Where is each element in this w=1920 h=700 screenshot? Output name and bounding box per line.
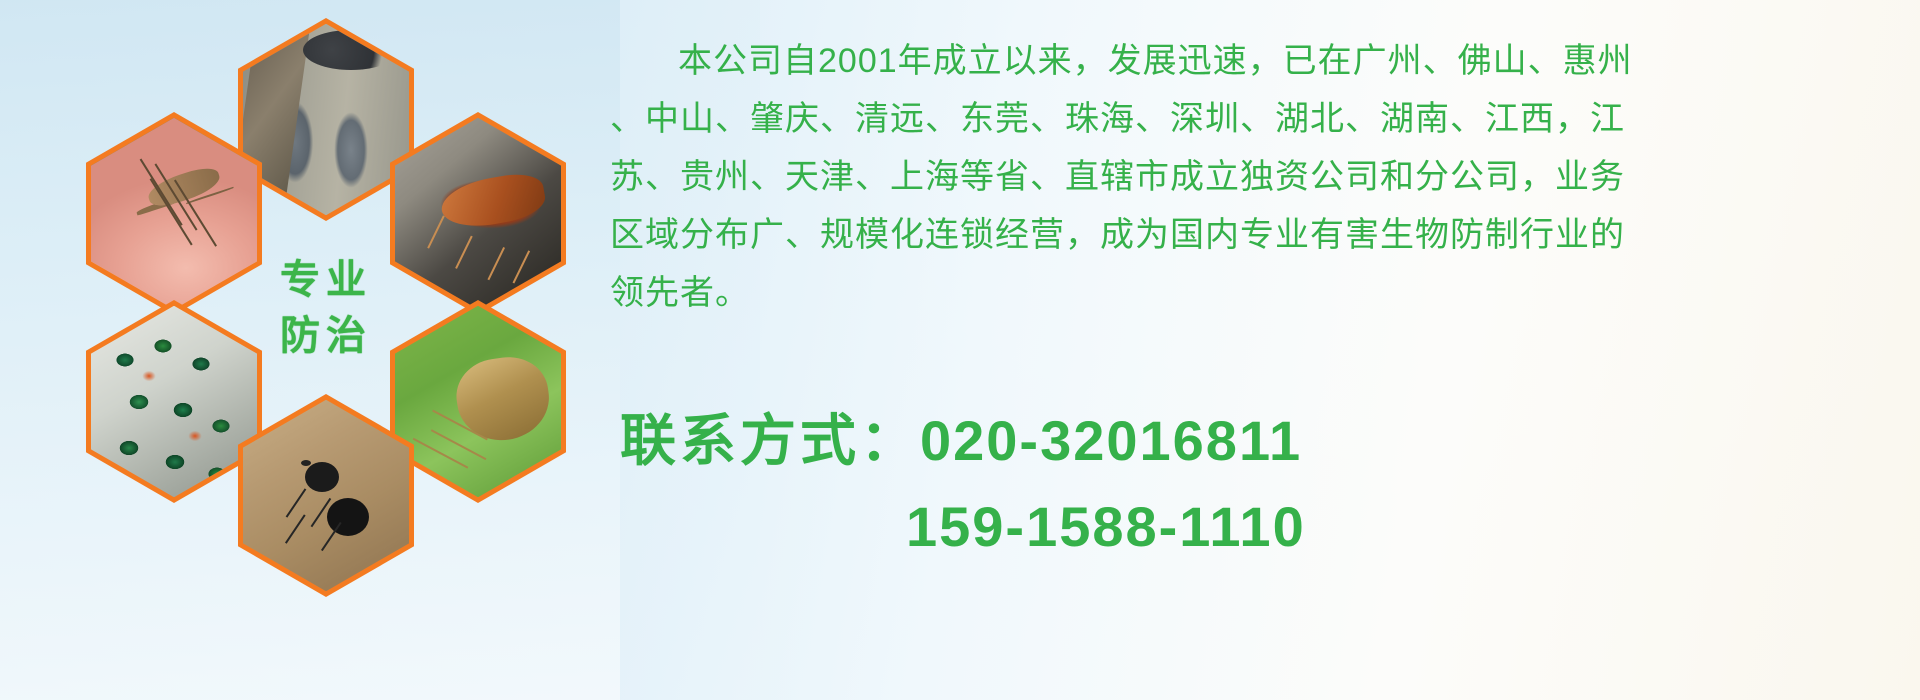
contact-block: 联系方式：020-32016811 159-1588-1110 [620,398,1900,570]
hex-tile-stinkbug[interactable] [390,300,566,503]
phone-secondary[interactable]: 159-1588-1110 [906,495,1306,558]
rodent-photo [243,24,409,215]
collage-slogan: 专业 防治 [238,206,414,409]
hex-tile-cockroach[interactable] [390,112,566,315]
collage-slogan-line1: 专业 [280,260,372,300]
phone-primary[interactable]: 020-32016811 [920,409,1302,472]
hex-tile-ant-inner [243,400,409,591]
hex-tile-cockroach-inner [395,118,561,309]
intro-line-3: 苏、贵州、天津、上海等省、直辖市成立独资公司和分公司，业务 [610,148,1900,206]
hex-collage: 专业 防治 [78,8,578,548]
intro-line-5: 领先者。 [610,264,1900,322]
mosquito-photo [91,118,257,309]
hex-tile-mosquito[interactable] [86,112,262,315]
collage-slogan-line2: 防治 [280,316,372,356]
intro-line-2: 、中山、肇庆、清远、东莞、珠海、深圳、湖北、湖南、江西，江 [610,90,1900,148]
flies-photo [91,306,257,497]
contact-secondary-line: 159-1588-1110 [620,484,1900,570]
stinkbug-photo [395,306,561,497]
hex-tile-center-label: 专业 防治 [238,206,414,409]
intro-line-1: 本公司自2001年成立以来，发展迅速，已在广州、佛山、惠州 [610,32,1900,90]
hex-tile-stinkbug-inner [395,306,561,497]
hex-tile-center-inner: 专业 防治 [238,206,414,409]
ant-photo [243,400,409,591]
banner-root: 专业 防治 本公司自2001年成立以来，发展迅速，已在广州、佛山、惠州 、中山、… [0,0,1920,700]
hex-tile-rodents-inner [243,24,409,215]
cockroach-photo [395,118,561,309]
company-intro: 本公司自2001年成立以来，发展迅速，已在广州、佛山、惠州 、中山、肇庆、清远、… [610,32,1900,322]
hex-tile-rodents[interactable] [238,18,414,221]
contact-primary-line: 联系方式：020-32016811 [620,398,1900,484]
intro-line-4: 区域分布广、规模化连锁经营，成为国内专业有害生物防制行业的 [610,206,1900,264]
contact-label: 联系方式： [620,409,920,472]
hex-tile-ant[interactable] [238,394,414,597]
hex-tile-flies[interactable] [86,300,262,503]
hex-tile-flies-inner [91,306,257,497]
hex-tile-mosquito-inner [91,118,257,309]
